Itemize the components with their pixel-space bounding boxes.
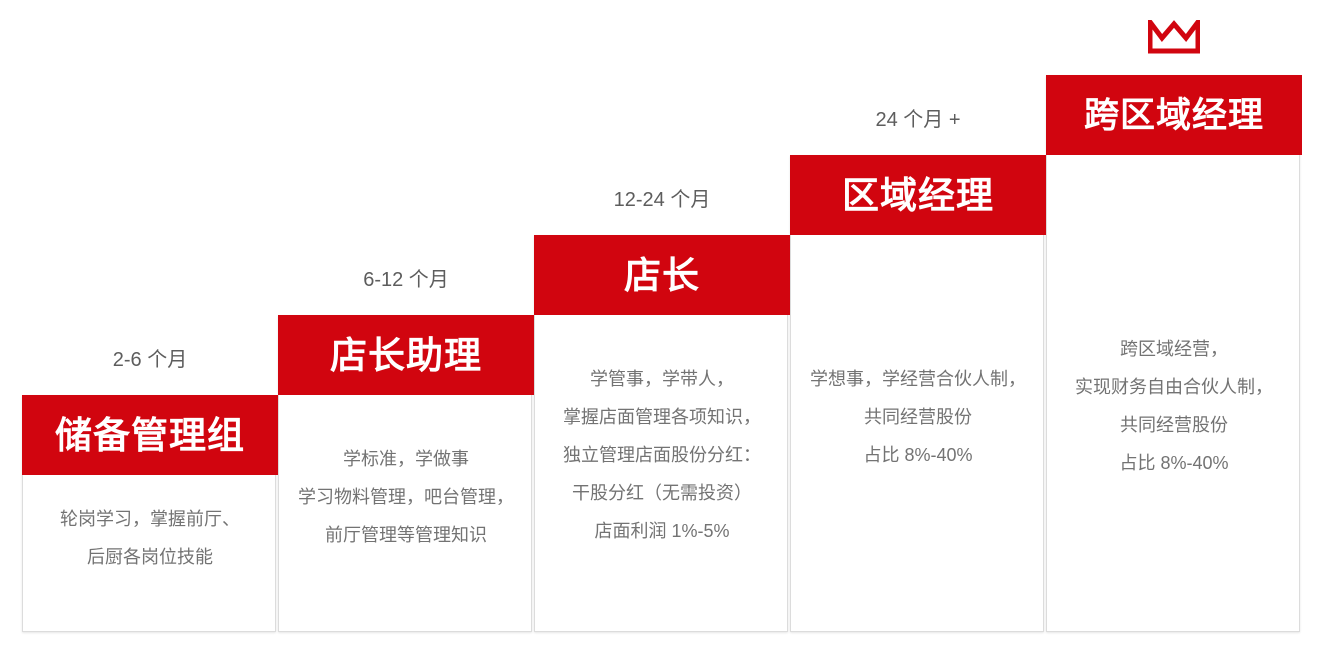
role-description-4: 学想事，学经营合伙人制，共同经营股份占比 8%-40% xyxy=(790,360,1046,474)
role-title-4: 区域经理 xyxy=(842,177,994,214)
duration-label-2: 6-12 个月 xyxy=(278,270,534,290)
career-step-column-1: 2-6 个月储备管理组轮岗学习，掌握前厅、后厨各岗位技能 xyxy=(22,0,278,651)
description-line: 店面利润 1%-5% xyxy=(534,512,790,550)
role-description-1: 轮岗学习，掌握前厅、后厨各岗位技能 xyxy=(22,500,278,576)
career-step-column-4: 24 个月 +区域经理学想事，学经营合伙人制，共同经营股份占比 8%-40% xyxy=(790,0,1046,651)
career-step-column-2: 6-12 个月店长助理学标准，学做事学习物料管理，吧台管理，前厅管理等管理知识 xyxy=(278,0,534,651)
role-header-5[interactable]: 跨区域经理 xyxy=(1046,75,1302,155)
role-description-5: 跨区域经营，实现财务自由合伙人制，共同经营股份占比 8%-40% xyxy=(1046,330,1302,482)
role-header-4[interactable]: 区域经理 xyxy=(790,155,1046,235)
duration-label-4: 24 个月 + xyxy=(790,110,1046,130)
role-description-2: 学标准，学做事学习物料管理，吧台管理，前厅管理等管理知识 xyxy=(278,440,534,554)
description-line: 学标准，学做事 xyxy=(278,440,534,478)
description-line: 实现财务自由合伙人制， xyxy=(1046,368,1302,406)
role-title-1: 储备管理组 xyxy=(55,417,245,454)
career-step-column-5: 跨区域经理跨区域经营，实现财务自由合伙人制，共同经营股份占比 8%-40% xyxy=(1046,0,1302,651)
career-path-staircase-diagram: 2-6 个月储备管理组轮岗学习，掌握前厅、后厨各岗位技能6-12 个月店长助理学… xyxy=(0,0,1325,651)
description-line: 学管事，学带人， xyxy=(534,360,790,398)
description-line: 占比 8%-40% xyxy=(790,436,1046,474)
description-line: 共同经营股份 xyxy=(1046,406,1302,444)
role-description-3: 学管事，学带人，掌握店面管理各项知识，独立管理店面股份分红：干股分红（无需投资）… xyxy=(534,360,790,550)
description-line: 跨区域经营， xyxy=(1046,330,1302,368)
crown-icon xyxy=(1148,20,1200,54)
role-title-3: 店长 xyxy=(624,257,700,294)
role-header-3[interactable]: 店长 xyxy=(534,235,790,315)
duration-label-1: 2-6 个月 xyxy=(22,350,278,370)
duration-label-3: 12-24 个月 xyxy=(534,190,790,210)
role-title-5: 跨区域经理 xyxy=(1084,98,1264,133)
career-step-column-3: 12-24 个月店长学管事，学带人，掌握店面管理各项知识，独立管理店面股份分红：… xyxy=(534,0,790,651)
description-line: 学想事，学经营合伙人制， xyxy=(790,360,1046,398)
description-line: 共同经营股份 xyxy=(790,398,1046,436)
role-header-2[interactable]: 店长助理 xyxy=(278,315,534,395)
role-header-1[interactable]: 储备管理组 xyxy=(22,395,278,475)
description-line: 后厨各岗位技能 xyxy=(22,538,278,576)
role-title-2: 店长助理 xyxy=(330,337,482,374)
description-line: 干股分红（无需投资） xyxy=(534,474,790,512)
description-line: 占比 8%-40% xyxy=(1046,444,1302,482)
description-line: 前厅管理等管理知识 xyxy=(278,516,534,554)
description-line: 学习物料管理，吧台管理， xyxy=(278,478,534,516)
description-line: 独立管理店面股份分红： xyxy=(534,436,790,474)
description-line: 轮岗学习，掌握前厅、 xyxy=(22,500,278,538)
description-line: 掌握店面管理各项知识， xyxy=(534,398,790,436)
